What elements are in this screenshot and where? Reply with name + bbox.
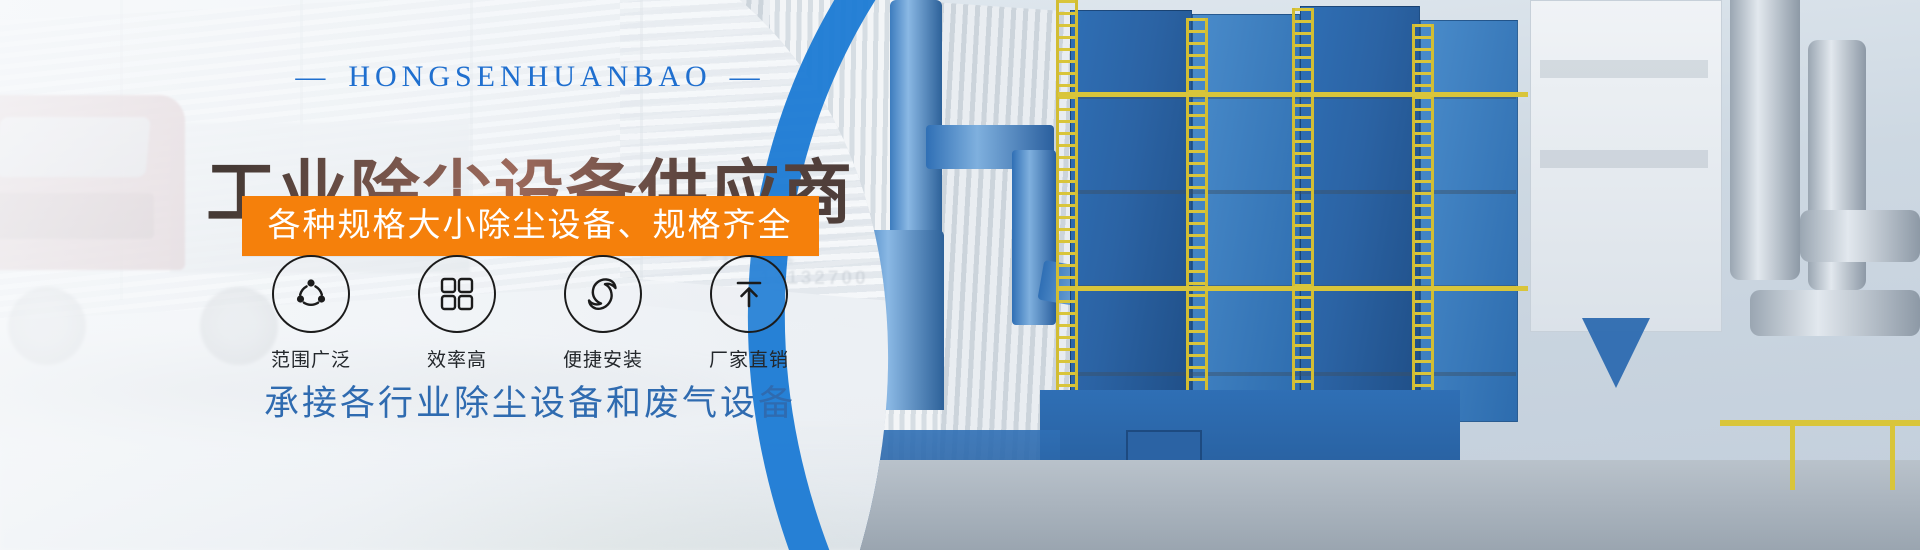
grid-four-squares-icon [418, 255, 496, 333]
feature-list: 范围广泛 效率高 [0, 255, 1060, 372]
hero-banner: 环保 13132700 [0, 0, 1920, 550]
feature-label: 效率高 [415, 345, 499, 372]
feature-label: 厂家直销 [707, 345, 791, 372]
orange-ribbon-wrap: 各种规格大小除尘设备、规格齐全 [0, 196, 1060, 256]
arrow-up-icon [710, 255, 788, 333]
feature-label: 便捷安装 [561, 345, 645, 372]
steel-duct [1800, 210, 1920, 262]
feature-item-range[interactable]: 范围广泛 [269, 255, 353, 372]
hero-content: — HONGSENHUANBAO — 工业除尘设备供应商 各种规格大小除尘设备、… [0, 0, 1100, 550]
baghouse-module [1192, 14, 1300, 428]
yellow-post [1790, 420, 1795, 490]
wrench-icon [564, 255, 642, 333]
eyebrow-dash-left: — [295, 60, 330, 94]
yellow-railing [1058, 92, 1528, 97]
subtitle-ribbon: 各种规格大小除尘设备、规格齐全 [242, 196, 819, 256]
yellow-ladder [1412, 24, 1434, 424]
feature-item-factory-direct[interactable]: 厂家直销 [707, 255, 791, 372]
yellow-ladder [1292, 8, 1314, 428]
building-window-band [1540, 150, 1708, 168]
eyebrow-dash-right: — [730, 60, 765, 94]
hero-tagline: 承接各行业除尘设备和废气设备 [0, 375, 1060, 426]
yellow-railing [1058, 286, 1528, 291]
eyebrow-text: HONGSENHUANBAO [348, 60, 711, 94]
yellow-ladder [1186, 18, 1208, 430]
baghouse-module [1300, 6, 1420, 426]
feature-item-efficiency[interactable]: 效率高 [415, 255, 499, 372]
share-network-icon [272, 255, 350, 333]
feature-item-installation[interactable]: 便捷安装 [561, 255, 645, 372]
baghouse-module [1420, 20, 1518, 422]
steel-duct [1750, 290, 1920, 336]
building-window-band [1540, 60, 1708, 78]
steel-cyclone [1730, 0, 1800, 280]
hopper-cone [1582, 318, 1650, 388]
feature-label: 范围广泛 [269, 345, 353, 372]
eyebrow-brand-line: — HONGSENHUANBAO — [0, 60, 1060, 94]
yellow-post [1890, 420, 1895, 490]
